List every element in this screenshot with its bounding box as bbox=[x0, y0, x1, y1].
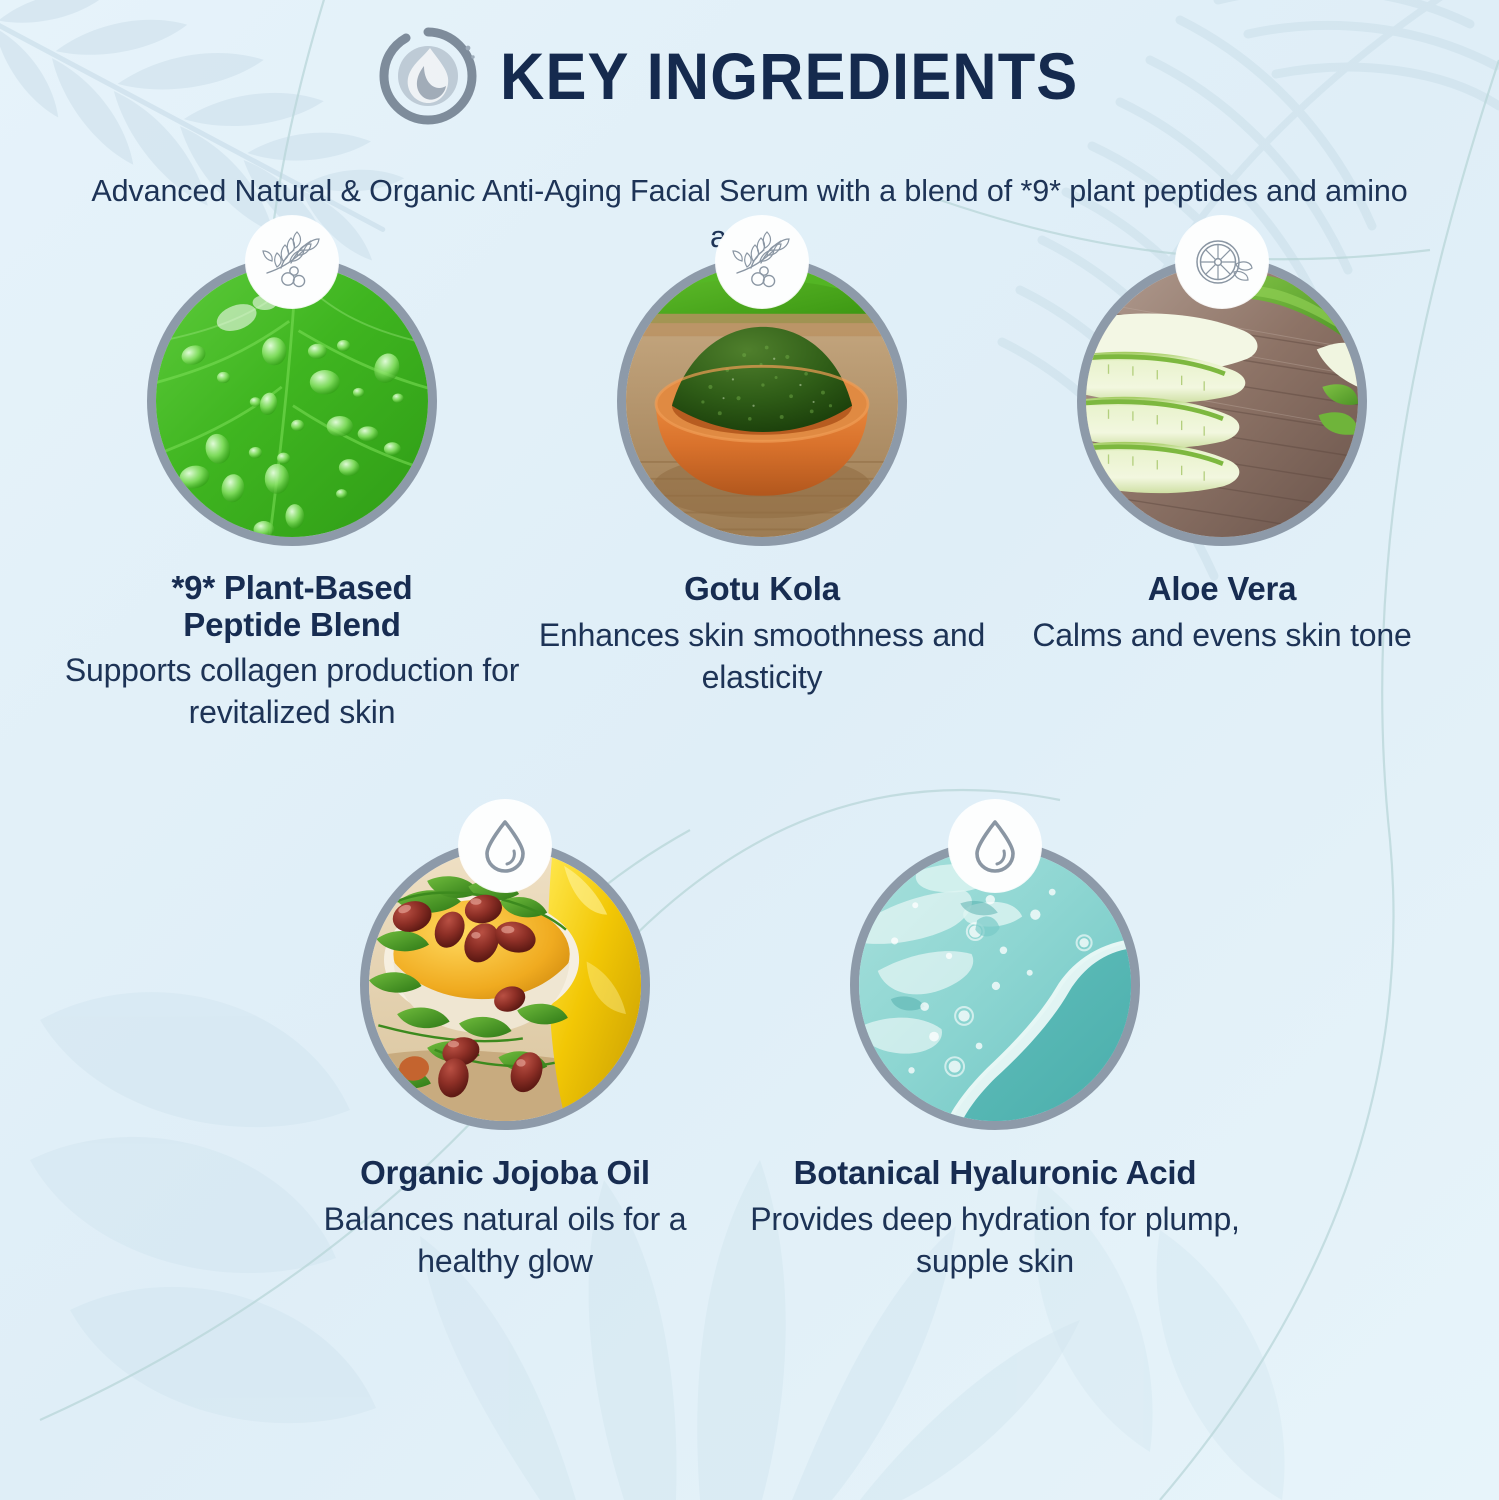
ingredient-description: Enhances skin smoothness and elasticity bbox=[532, 615, 992, 698]
ingredient-media bbox=[270, 840, 740, 1130]
badge-water-droplet bbox=[949, 800, 1041, 892]
herb-branch-icon bbox=[261, 231, 323, 293]
ingredient-media bbox=[992, 256, 1452, 546]
ingredient-media bbox=[740, 840, 1250, 1130]
header: KEY INGREDIENTS Advanced Natural & Organ… bbox=[0, 26, 1499, 126]
ingredient-name-line-1: *9* Plant-Based bbox=[172, 569, 413, 606]
ingredient-name: *9* Plant-Based Peptide Blend bbox=[52, 570, 532, 644]
water-droplet-icon bbox=[966, 817, 1024, 875]
ingredient-name: Aloe Vera bbox=[992, 570, 1452, 609]
water-droplet-icon bbox=[476, 817, 534, 875]
ingredient-card-hyaluronic-acid: Botanical Hyaluronic Acid Provides deep … bbox=[740, 840, 1250, 1282]
ingredient-description: Balances natural oils for a healthy glow bbox=[270, 1199, 740, 1282]
ingredient-card-peptide-blend: *9* Plant-Based Peptide Blend Supports c… bbox=[52, 256, 532, 733]
badge-citrus-slice bbox=[1176, 216, 1268, 308]
ingredient-description: Calms and evens skin tone bbox=[992, 615, 1452, 657]
ingredient-row-top: *9* Plant-Based Peptide Blend Supports c… bbox=[52, 256, 1452, 733]
ingredient-name: Organic Jojoba Oil bbox=[270, 1154, 740, 1193]
ingredient-name: Botanical Hyaluronic Acid bbox=[740, 1154, 1250, 1193]
citrus-slice-icon bbox=[1190, 230, 1254, 294]
ingredient-media bbox=[52, 256, 532, 546]
badge-herb-branch bbox=[716, 216, 808, 308]
ingredient-card-aloe-vera: Aloe Vera Calms and evens skin tone bbox=[992, 256, 1452, 733]
title-row: KEY INGREDIENTS bbox=[0, 26, 1499, 126]
ingredient-description: Provides deep hydration for plump, suppl… bbox=[740, 1199, 1250, 1282]
page-title: KEY INGREDIENTS bbox=[500, 43, 1078, 109]
ingredient-media bbox=[532, 256, 992, 546]
ingredient-name-line-2: Peptide Blend bbox=[183, 606, 400, 643]
badge-herb-branch bbox=[246, 216, 338, 308]
badge-water-droplet bbox=[459, 800, 551, 892]
droplet-leaf-logo-icon bbox=[378, 26, 478, 126]
herb-branch-icon bbox=[731, 231, 793, 293]
infographic-canvas: KEY INGREDIENTS Advanced Natural & Organ… bbox=[0, 0, 1499, 1500]
ingredient-description: Supports collagen production for revital… bbox=[52, 650, 532, 733]
ingredient-row-bottom: Organic Jojoba Oil Balances natural oils… bbox=[270, 840, 1250, 1282]
ingredient-card-jojoba-oil: Organic Jojoba Oil Balances natural oils… bbox=[270, 840, 740, 1282]
ingredient-name: Gotu Kola bbox=[532, 570, 992, 609]
ingredient-card-gotu-kola: Gotu Kola Enhances skin smoothness and e… bbox=[532, 256, 992, 733]
